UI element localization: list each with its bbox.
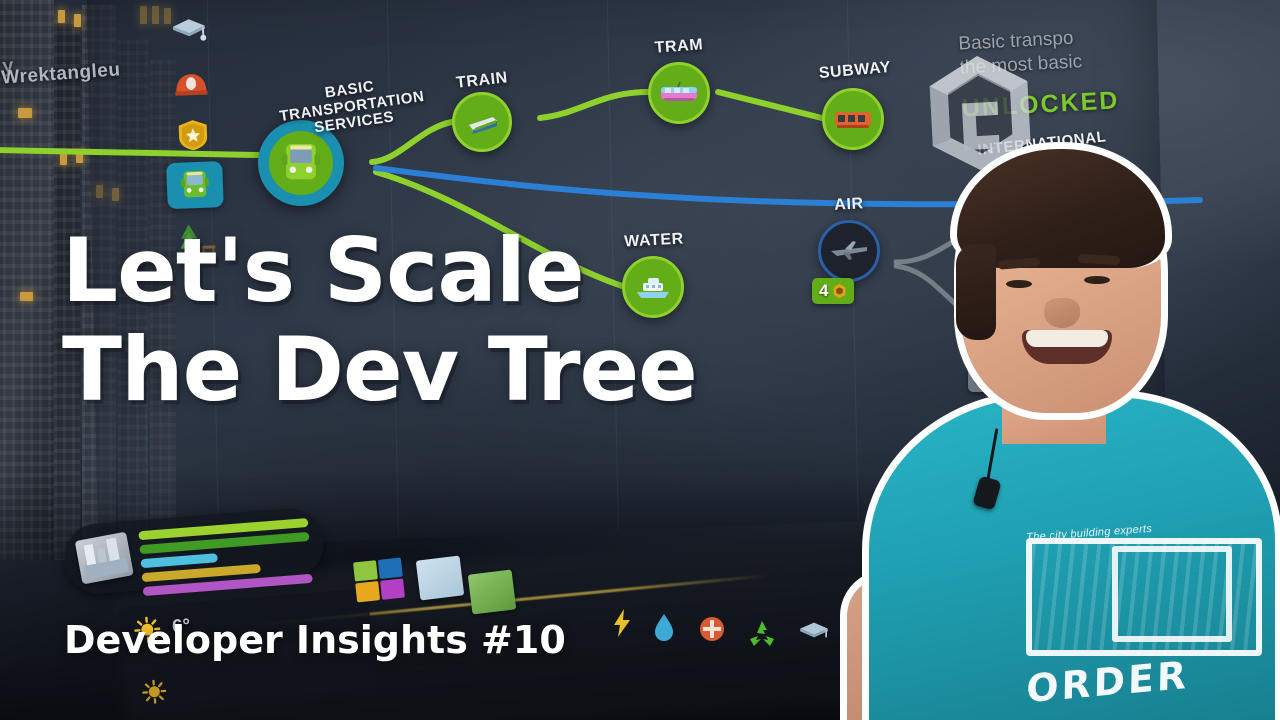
tech-node-train[interactable] (452, 92, 512, 152)
stat-bar (140, 553, 217, 568)
presenter-nose (1044, 298, 1080, 328)
unlock-notification: Basic transpo the most basic UNLOCKED (958, 15, 1280, 123)
thumbnail-stage: BASIC TRANSPORTATION SERVICES TRAIN TRAM (0, 0, 1280, 720)
shirt-brand-text: ORDER (1026, 653, 1189, 711)
sun-icon (141, 679, 167, 705)
hud-icon-healthcare[interactable] (695, 612, 729, 646)
tram-icon (658, 79, 700, 107)
hud-icon-garbage[interactable] (745, 616, 779, 650)
subtitle: Developer Insights #10 (64, 618, 566, 662)
palette-swatch (378, 558, 403, 579)
palette-swatch (355, 581, 380, 602)
zone-palette[interactable] (353, 558, 405, 603)
recycling-icon (748, 619, 776, 647)
graduation-cap-icon (799, 620, 829, 646)
health-cross-icon (698, 615, 726, 643)
palette-swatch (380, 578, 405, 599)
stat-bars (138, 518, 313, 601)
hud-icon-water[interactable] (647, 610, 681, 644)
presenter-cutout: The city building experts ORDER (826, 120, 1280, 720)
train-icon (463, 107, 501, 137)
presenter-mouth (1022, 330, 1112, 364)
hud-icon-electricity[interactable] (605, 606, 639, 640)
water-drop-icon (653, 613, 675, 641)
title-line-1: Let's Scale (62, 228, 822, 313)
bus-icon (278, 140, 324, 186)
presenter-hair-side (956, 244, 996, 340)
shirt-logo-right (1112, 546, 1232, 642)
palette-swatch (353, 560, 378, 581)
presenter-eye (1084, 276, 1110, 284)
shirt-graphic: The city building experts ORDER (922, 512, 1172, 708)
presenter-teeth (1026, 330, 1108, 347)
city-thumbnail-icon (75, 532, 134, 585)
tech-node-tram[interactable] (648, 62, 710, 124)
lightning-bolt-icon (611, 608, 633, 638)
title-line-2: The Dev Tree (62, 327, 822, 412)
presenter-eye (1006, 280, 1032, 288)
title-block: Let's Scale The Dev Tree (62, 228, 822, 413)
